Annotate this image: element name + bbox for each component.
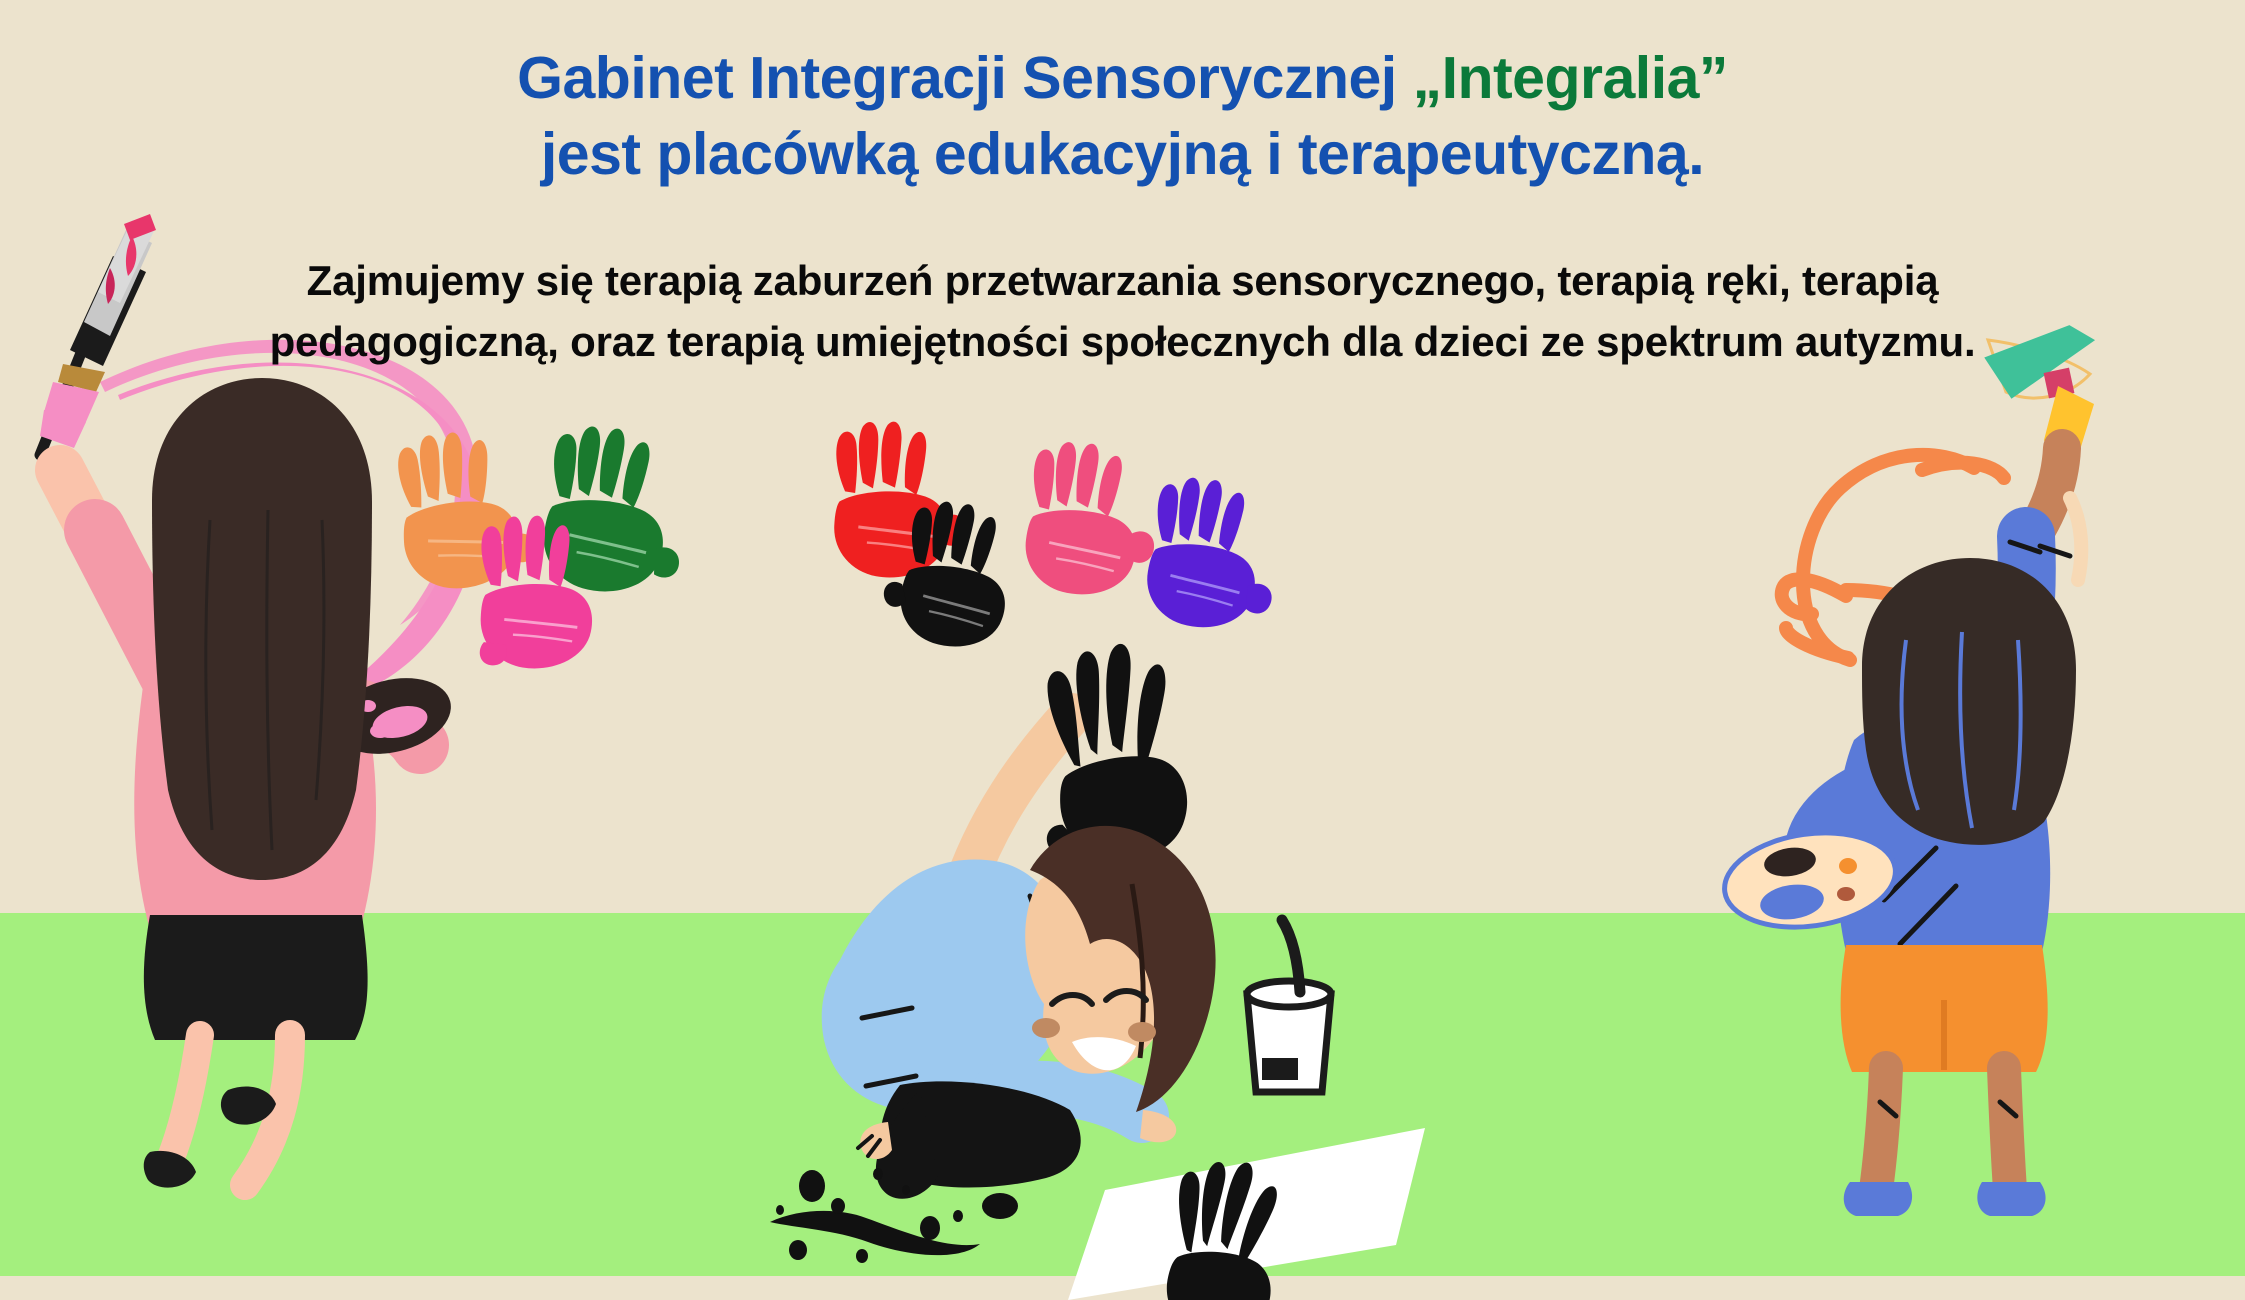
handprints-group [390, 419, 1282, 672]
palette-paint-orange [1839, 858, 1857, 874]
illustration-scene [0, 0, 2245, 1300]
right-child-shoe-left [1844, 1182, 1912, 1216]
right-child-group [1718, 321, 2103, 1216]
left-child-shoe-back [144, 1151, 196, 1188]
paint-can [1247, 920, 1331, 1092]
right-child-shoe-right [1977, 1182, 2045, 1216]
handprint-purple-icon [1143, 475, 1281, 634]
handprint-red-icon [831, 419, 969, 580]
center-child-hand-down [1140, 1110, 1176, 1142]
left-child-leg-back [170, 1035, 200, 1160]
left-child-group [40, 214, 481, 1188]
center-child-blush-right [1128, 1022, 1156, 1042]
right-child-leg-left [1876, 1068, 1886, 1190]
paintbrush-head-icon [40, 214, 156, 448]
poster-canvas: Gabinet Integracji Sensorycznej „Integra… [0, 0, 2245, 1300]
right-child-arm-highlight [2070, 498, 2081, 580]
orange-swoosh-lower-icon [1782, 579, 1846, 614]
paint-can-label [1262, 1058, 1298, 1080]
right-child-leg-right [2004, 1068, 2010, 1190]
left-child-hair [152, 378, 372, 880]
orange-swoosh-tip-icon [1922, 463, 2004, 478]
palette-paint-brown [1837, 887, 1855, 901]
handprint-pink-icon [1023, 440, 1159, 598]
paint-roller-icon [1981, 321, 2103, 457]
center-child-blush-left [1032, 1018, 1060, 1038]
left-child-skirt [144, 915, 368, 1040]
center-child-group [770, 639, 1425, 1300]
